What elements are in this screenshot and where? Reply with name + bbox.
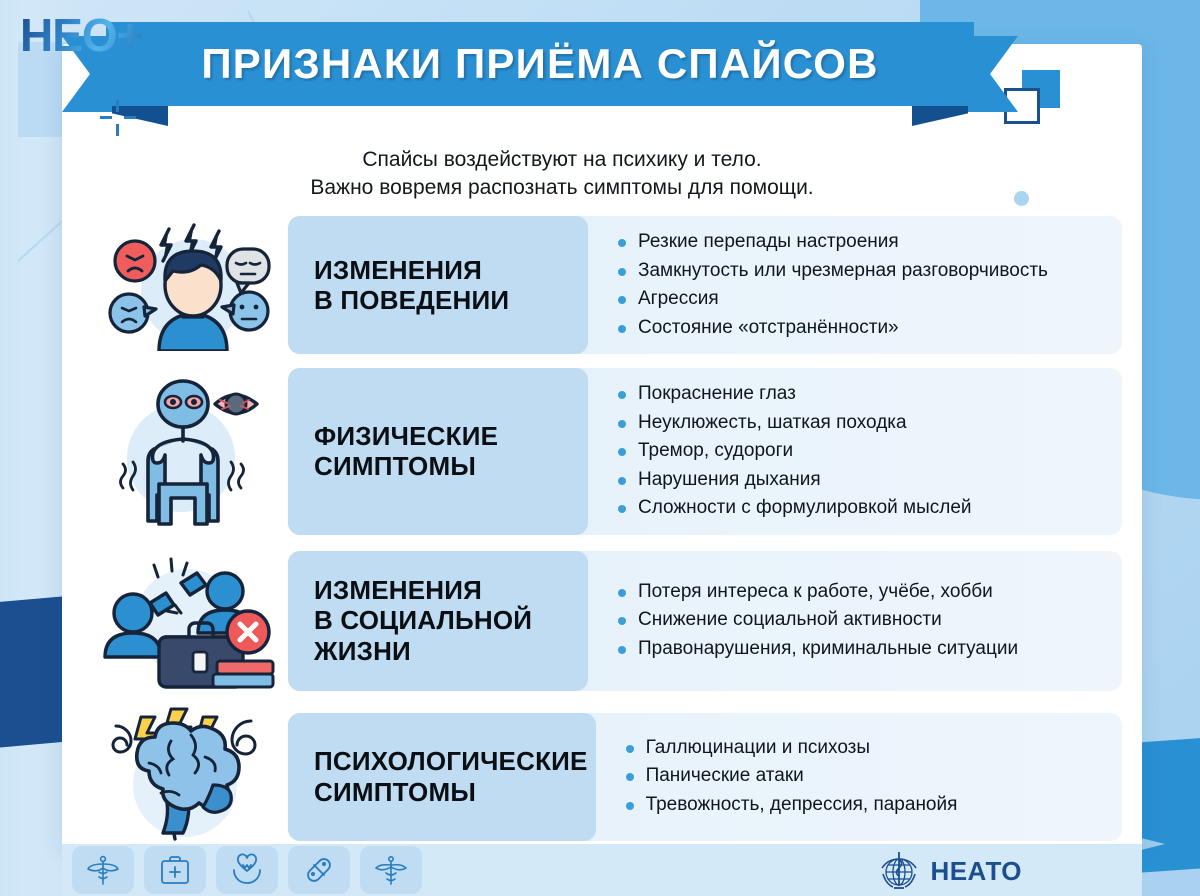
section-content: ПСИХОЛОГИЧЕСКИЕ СИМПТОМЫ Галлюцинации и … [288,713,1122,841]
section-title: ИЗМЕНЕНИЯ В СОЦИАЛЬНОЙ ЖИЗНИ [314,575,532,665]
section-items: Покраснение глаз Неуклюжесть, шаткая пох… [588,368,1122,535]
section-label-card: ФИЗИЧЕСКИЕ СИМПТОМЫ [288,368,588,535]
title-ribbon: ПРИЗНАКИ ПРИЁМА СПАЙСОВ [62,22,1018,132]
caduceus-wings-icon [360,846,422,894]
infographic-poster: НЕО+ ПРИЗНАКИ ПРИЁМА СПАЙСОВ Спайсы возд… [0,0,1200,896]
broken-social-link-briefcase-icon [92,549,288,693]
list-item: Замкнутость или чрезмерная разговорчивос… [618,257,1106,286]
footer-icon-tiles [62,846,422,894]
mood-swings-person-icon [92,219,288,351]
list-item: Сложности с формулировкой мыслей [618,494,1106,523]
list-item: Тремор, судороги [618,437,1106,466]
subtitle-line-2: Важно вовремя распознать симптомы для по… [62,174,1062,202]
section-row: ФИЗИЧЕСКИЕ СИМПТОМЫ Покраснение глаз Неу… [92,368,1122,535]
brand-logo: НЕО+ [20,8,143,62]
footer-bar: НЕАТО [62,844,1142,896]
page-title: ПРИЗНАКИ ПРИЁМА СПАЙСОВ [201,40,878,88]
list-item: Снижение социальной активности [618,606,1106,635]
subtitle-line-1: Спайсы воздействуют на психику и тело. [62,146,1062,174]
section-title: ИЗМЕНЕНИЯ В ПОВЕДЕНИИ [314,255,509,315]
section-row: ПСИХОЛОГИЧЕСКИЕ СИМПТОМЫ Галлюцинации и … [92,707,1122,847]
list-item: Правонарушения, криминальные ситуации [618,635,1106,664]
list-item: Резкие перепады настроения [618,228,1106,257]
caduceus-icon [72,846,134,894]
list-item: Нарушения дыхания [618,466,1106,495]
heart-in-hands-icon [216,846,278,894]
org-logo: НЕАТО [876,848,1022,894]
section-label-card: ИЗМЕНЕНИЯ В СОЦИАЛЬНОЙ ЖИЗНИ [288,551,588,691]
section-title: ПСИХОЛОГИЧЕСКИЕ СИМПТОМЫ [314,746,588,806]
org-name: НЕАТО [930,856,1022,887]
list-item: Агрессия [618,285,1106,314]
list-item: Состояние «отстранённости» [618,314,1106,343]
section-row: ИЗМЕНЕНИЯ В СОЦИАЛЬНОЙ ЖИЗНИ Потеря инте… [92,549,1122,693]
section-content: ФИЗИЧЕСКИЕ СИМПТОМЫ Покраснение глаз Неу… [288,368,1122,535]
list-item: Покраснение глаз [618,380,1106,409]
section-items: Резкие перепады настроения Замкнутость и… [588,216,1122,354]
sections-list: ИЗМЕНЕНИЯ В ПОВЕДЕНИИ Резкие перепады на… [92,216,1122,861]
section-label-card: ИЗМЕНЕНИЯ В ПОВЕДЕНИИ [288,216,588,354]
section-label-card: ПСИХОЛОГИЧЕСКИЕ СИМПТОМЫ [288,713,596,841]
section-items: Потеря интереса к работе, учёбе, хобби С… [588,551,1122,691]
section-title: ФИЗИЧЕСКИЕ СИМПТОМЫ [314,421,498,481]
ribbon-body: ПРИЗНАКИ ПРИЁМА СПАЙСОВ [106,22,974,106]
who-emblem-icon [876,848,922,894]
subtitle-block: Спайсы воздействуют на психику и тело. В… [62,146,1062,201]
section-content: ИЗМЕНЕНИЯ В ПОВЕДЕНИИ Резкие перепады на… [288,216,1122,354]
crosshair-icon [100,100,136,136]
list-item: Галлюцинации и психозы [626,734,1106,763]
brain-lightning-icon [92,707,288,847]
section-row: ИЗМЕНЕНИЯ В ПОВЕДЕНИИ Резкие перепады на… [92,216,1122,354]
first-aid-kit-icon [144,846,206,894]
section-content: ИЗМЕНЕНИЯ В СОЦИАЛЬНОЙ ЖИЗНИ Потеря инте… [288,551,1122,691]
section-items: Галлюцинации и психозы Панические атаки … [596,713,1122,841]
list-item: Панические атаки [626,762,1106,791]
pill-icon [288,846,350,894]
list-item: Тревожность, депрессия, паранойя [626,791,1106,820]
list-item: Потеря интереса к работе, учёбе, хобби [618,578,1106,607]
list-item: Неуклюжесть, шаткая походка [618,409,1106,438]
trembling-body-red-eye-icon [92,376,288,526]
